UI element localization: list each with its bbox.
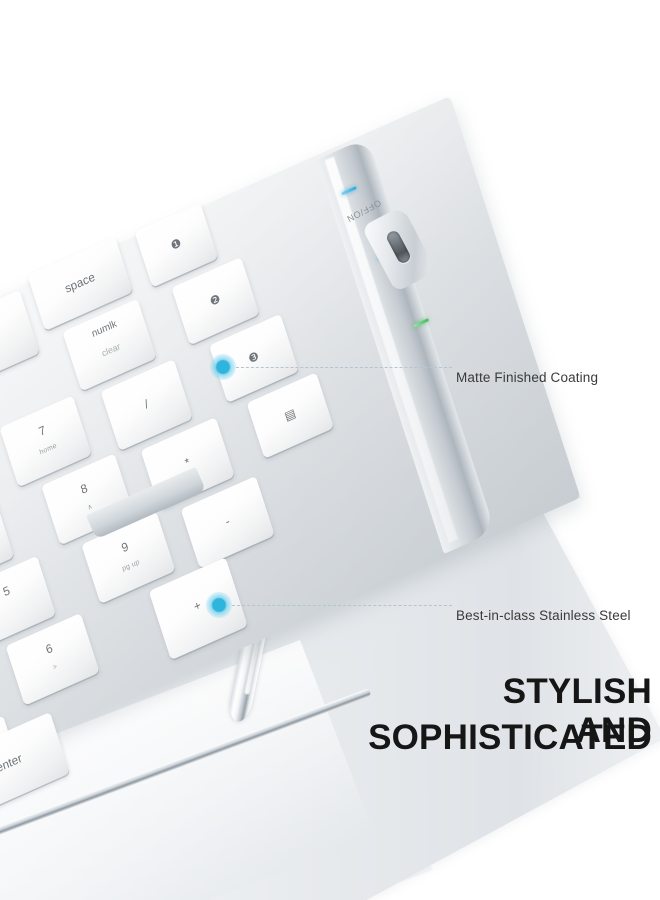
hotspot-matte-coating[interactable] [210, 354, 236, 380]
key-label: 5 [0, 569, 45, 613]
headline-line-2: SOPHISTICATED [368, 718, 652, 757]
key-label: ▤ [253, 393, 326, 435]
leader-line-matte-coating [236, 367, 452, 368]
callout-label-stainless-steel: Best-in-class Stainless Steel [456, 608, 631, 623]
product-photo: enter | \ space numlk clear ❶ ❷ ❸ [0, 0, 660, 900]
hotspot-stainless-steel[interactable] [206, 592, 232, 618]
key-label: / [108, 382, 185, 426]
key-sublabel: \ [0, 323, 33, 363]
key-label: ❷ [179, 279, 252, 321]
leader-line-stainless-steel [232, 605, 452, 606]
key-label: ❶ [141, 224, 211, 265]
callout-label-matte-coating: Matte Finished Coating [456, 370, 598, 385]
product-feature-image: enter | \ space numlk clear ❶ ❷ ❸ [0, 0, 660, 900]
key-label: space [34, 257, 125, 308]
key-label: - [188, 498, 267, 543]
